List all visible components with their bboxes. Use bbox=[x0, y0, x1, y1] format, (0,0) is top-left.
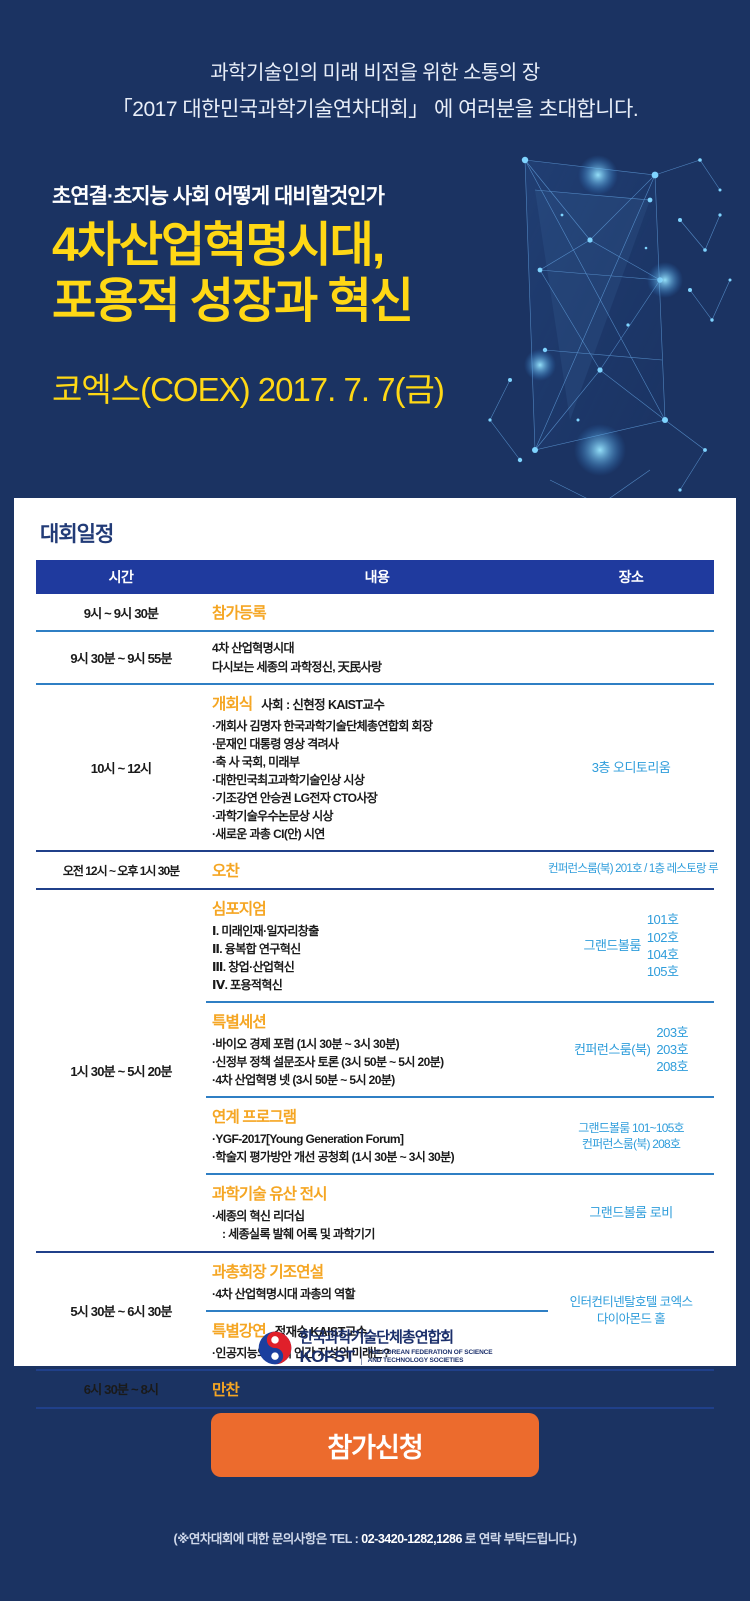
section-title: 심포지엄 bbox=[212, 897, 266, 919]
section-item-list: 4차 산업혁명시대 과총의 역할 bbox=[212, 1285, 548, 1303]
row-place bbox=[548, 1370, 714, 1408]
section-extra-line: : 세종실록 발췌 어록 및 과학기기 bbox=[212, 1225, 548, 1244]
row-place: 컨퍼런스룸(북) 201호 / 1층 레스토랑 루 bbox=[548, 851, 714, 889]
column-header-time: 시간 bbox=[36, 560, 206, 594]
row-line: 다시보는 세종의 과학정신, 天民사랑 bbox=[212, 658, 548, 677]
room: 101호 bbox=[647, 911, 679, 928]
headline-block: 초연결·초지능 사회 어떻게 대비할것인가 4차산업혁명시대, 포용적 성장과 … bbox=[52, 180, 532, 411]
section-heading-line: 개회식 사회 : 신현정 KAIST교수 bbox=[212, 692, 548, 714]
table-row[interactable]: 6시 30분 ~ 8시 만찬 bbox=[36, 1370, 714, 1408]
section-item-list: Ⅰ. 미래인재·일자리창출 Ⅱ. 융복합 연구혁신 Ⅲ. 창업·산업혁신 Ⅳ. … bbox=[212, 922, 548, 994]
place-split: 그랜드볼룸 101호 102호 104호 105호 bbox=[548, 911, 714, 980]
row-place bbox=[548, 594, 714, 631]
list-item: 문재인 대통령 영상 격려사 bbox=[212, 735, 548, 753]
intro-line-2: 「2017 대한민국과학기술연차대회」 에 여러분을 초대합니다. bbox=[0, 94, 750, 127]
headline-venue-date: 코엑스(COEX) 2017. 7. 7(금) bbox=[52, 363, 532, 411]
list-item: 과학기술우수논문상 시상 bbox=[212, 807, 548, 825]
apply-button[interactable]: 참가신청 bbox=[211, 1413, 539, 1477]
kofst-abbr-row: KOFST THE KOREAN FEDERATION OF SCIENCE A… bbox=[300, 1348, 493, 1365]
section-title: 과학기술 유산 전시 bbox=[212, 1182, 327, 1204]
headline-kicker: 초연결·초지능 사회 어떻게 대비할것인가 bbox=[52, 180, 532, 210]
row-time: 6시 30분 ~ 8시 bbox=[36, 1370, 206, 1408]
table-header-row: 시간 내용 장소 bbox=[36, 560, 714, 594]
row-content: 연계 프로그램 YGF-2017[Young Generation Forum]… bbox=[206, 1097, 548, 1174]
place-rooms: 203호 203호 208호 bbox=[656, 1024, 688, 1075]
list-item: YGF-2017[Young Generation Forum] bbox=[212, 1130, 548, 1148]
schedule-table-body: 9시 ~ 9시 30분 참가등록 9시 30분 ~ 9시 55분 4차 산업혁명… bbox=[36, 594, 714, 1408]
table-row[interactable]: 5시 30분 ~ 6시 30분 과총회장 기조연설 4차 산업혁명시대 과총의 … bbox=[36, 1252, 714, 1311]
column-header-place: 장소 bbox=[548, 560, 714, 594]
row-place: 3층 오디토리움 bbox=[548, 684, 714, 851]
row-place bbox=[548, 631, 714, 684]
row-time: 10시 ~ 12시 bbox=[36, 684, 206, 851]
contact-footnote: (※연차대회에 대한 문의사항은 TEL : 02-3420-1282,1286… bbox=[0, 1528, 750, 1547]
list-item: 바이오 경제 포럼 (1시 30분 ~ 3시 30분) bbox=[212, 1035, 548, 1053]
place-label: 그랜드볼룸 bbox=[584, 937, 641, 955]
kofst-korean-name: 한국과학기술단체총연합회 bbox=[300, 1330, 493, 1345]
row-content: 심포지엄 Ⅰ. 미래인재·일자리창출 Ⅱ. 융복합 연구혁신 Ⅲ. 창업·산업혁… bbox=[206, 889, 548, 1002]
list-item: 개회사 김명자 한국과학기술단체총연합회 회장 bbox=[212, 717, 548, 735]
row-content: 참가등록 bbox=[206, 594, 548, 631]
place-label: 컨퍼런스룸(북) bbox=[574, 1041, 650, 1059]
row-content: 만찬 bbox=[206, 1370, 548, 1408]
row-content: 4차 산업혁명시대 다시보는 세종의 과학정신, 天民사랑 bbox=[206, 631, 548, 684]
headline-title-line-2: 포용적 성장과 혁신 bbox=[52, 274, 532, 330]
section-title: 참가등록 bbox=[212, 601, 266, 623]
row-time: 9시 30분 ~ 9시 55분 bbox=[36, 631, 206, 684]
section-item-list: 개회사 김명자 한국과학기술단체총연합회 회장 문재인 대통령 영상 격려사 축… bbox=[212, 717, 548, 843]
list-item: 대한민국최고과학기술인상 시상 bbox=[212, 771, 548, 789]
schedule-card: 대회일정 시간 내용 장소 9시 ~ 9시 30분 참가등록 bbox=[14, 498, 736, 1366]
list-item: Ⅲ. 창업·산업혁신 bbox=[212, 958, 548, 976]
list-item: 학술지 평가방안 개선 공청회 (1시 30분 ~ 3시 30분) bbox=[212, 1148, 548, 1166]
kofst-logo-text: 한국과학기술단체총연합회 KOFST THE KOREAN FEDERATION… bbox=[300, 1330, 493, 1365]
place-line: 인터컨티넨탈호텔 코엑스 bbox=[548, 1294, 714, 1311]
row-place: 그랜드볼룸 로비 bbox=[548, 1174, 714, 1252]
list-item: Ⅳ. 포용적혁신 bbox=[212, 976, 548, 994]
list-item: 축 사 국회, 미래부 bbox=[212, 753, 548, 771]
place-line: 그랜드볼룸 101~105호 bbox=[548, 1120, 714, 1136]
kofst-swirl-icon bbox=[258, 1331, 292, 1365]
list-item: Ⅱ. 융복합 연구혁신 bbox=[212, 940, 548, 958]
poster-root: 과학기술인의 미래 비전을 위한 소통의 장 「2017 대한민국과학기술연차대… bbox=[0, 0, 750, 1601]
table-row[interactable]: 9시 30분 ~ 9시 55분 4차 산업혁명시대 다시보는 세종의 과학정신,… bbox=[36, 631, 714, 684]
footnote-prefix: (※연차대회에 대한 문의사항은 TEL : bbox=[174, 1532, 362, 1546]
section-title: 만찬 bbox=[212, 1378, 239, 1400]
row-content: 과총회장 기조연설 4차 산업혁명시대 과총의 역할 bbox=[206, 1252, 548, 1311]
kofst-english-name: THE KOREAN FEDERATION OF SCIENCE AND TEC… bbox=[368, 1349, 493, 1365]
kofst-logo: 한국과학기술단체총연합회 KOFST THE KOREAN FEDERATION… bbox=[0, 1330, 750, 1365]
table-row[interactable]: 오전 12시 ~ 오후 1시 30분 오찬 컨퍼런스룸(북) 201호 / 1층… bbox=[36, 851, 714, 889]
row-content: 특별세션 바이오 경제 포럼 (1시 30분 ~ 3시 30분) 신정부 정책 … bbox=[206, 1002, 548, 1097]
room: 105호 bbox=[647, 963, 679, 980]
row-line: 4차 산업혁명시대 bbox=[212, 639, 548, 658]
schedule-table-header: 시간 내용 장소 bbox=[36, 560, 714, 594]
row-time: 오전 12시 ~ 오후 1시 30분 bbox=[36, 851, 206, 889]
list-item: Ⅰ. 미래인재·일자리창출 bbox=[212, 922, 548, 940]
room: 203호 bbox=[656, 1041, 688, 1058]
section-title: 오찬 bbox=[212, 859, 239, 881]
footnote-suffix: 로 연락 부탁드립니다.) bbox=[462, 1532, 577, 1546]
row-time: 9시 ~ 9시 30분 bbox=[36, 594, 206, 631]
table-row[interactable]: 1시 30분 ~ 5시 20분 심포지엄 Ⅰ. 미래인재·일자리창출 Ⅱ. 융복… bbox=[36, 889, 714, 1002]
list-item: 기조강연 안승권 LG전자 CTO사장 bbox=[212, 789, 548, 807]
place-rooms: 101호 102호 104호 105호 bbox=[647, 911, 679, 980]
room: 104호 bbox=[647, 946, 679, 963]
section-title: 과총회장 기조연설 bbox=[212, 1260, 323, 1282]
intro-text: 과학기술인의 미래 비전을 위한 소통의 장 「2017 대한민국과학기술연차대… bbox=[0, 58, 750, 127]
kofst-english-line-2: AND TECHNOLOGY SOCIETIES bbox=[368, 1357, 464, 1364]
place-line: 컨퍼런스룸(북) 208호 bbox=[548, 1136, 714, 1152]
intro-line-1: 과학기술인의 미래 비전을 위한 소통의 장 bbox=[0, 58, 750, 89]
kofst-abbreviation: KOFST bbox=[300, 1348, 355, 1365]
place-split: 컨퍼런스룸(북) 203호 203호 208호 bbox=[548, 1024, 714, 1075]
logo-divider bbox=[361, 1349, 362, 1365]
list-item: 4차 산업혁명 넷 (3시 50분 ~ 5시 20분) bbox=[212, 1071, 548, 1089]
section-item-list: 바이오 경제 포럼 (1시 30분 ~ 3시 30분) 신정부 정책 설문조사 … bbox=[212, 1035, 548, 1089]
list-item: 새로운 과총 CI(안) 시연 bbox=[212, 825, 548, 843]
section-subtitle: 사회 : 신현정 KAIST교수 bbox=[261, 698, 384, 712]
place-line: 다이아몬드 홀 bbox=[548, 1311, 714, 1328]
row-content: 오찬 bbox=[206, 851, 548, 889]
row-content: 과학기술 유산 전시 세종의 혁신 리더십 : 세종실록 발췌 어록 및 과학기… bbox=[206, 1174, 548, 1252]
column-header-content: 내용 bbox=[206, 560, 548, 594]
list-item: 4차 산업혁명시대 과총의 역할 bbox=[212, 1285, 548, 1303]
row-content: 개회식 사회 : 신현정 KAIST교수 개회사 김명자 한국과학기술단체총연합… bbox=[206, 684, 548, 851]
section-title: 특별세션 bbox=[212, 1010, 266, 1032]
table-row[interactable]: 10시 ~ 12시 개회식 사회 : 신현정 KAIST교수 개회사 김명자 한… bbox=[36, 684, 714, 851]
list-item: 세종의 혁신 리더십 bbox=[212, 1207, 548, 1225]
section-title: 개회식 bbox=[212, 692, 252, 714]
headline-title-line-1: 4차산업혁명시대, bbox=[52, 218, 532, 274]
row-place: 그랜드볼룸 101~105호 컨퍼런스룸(북) 208호 bbox=[548, 1097, 714, 1174]
row-place: 그랜드볼룸 101호 102호 104호 105호 bbox=[548, 889, 714, 1002]
section-title: 연계 프로그램 bbox=[212, 1105, 296, 1127]
room: 208호 bbox=[656, 1058, 688, 1075]
kofst-english-line-1: THE KOREAN FEDERATION OF SCIENCE bbox=[368, 1349, 493, 1356]
section-item-list: YGF-2017[Young Generation Forum] 학술지 평가방… bbox=[212, 1130, 548, 1166]
row-place: 컨퍼런스룸(북) 203호 203호 208호 bbox=[548, 1002, 714, 1097]
room: 102호 bbox=[647, 929, 679, 946]
contact-phone-number: 02-3420-1282,1286 bbox=[361, 1532, 462, 1546]
list-item: 신정부 정책 설문조사 토론 (3시 50분 ~ 5시 20분) bbox=[212, 1053, 548, 1071]
schedule-card-title: 대회일정 bbox=[40, 518, 714, 548]
row-time: 1시 30분 ~ 5시 20분 bbox=[36, 889, 206, 1252]
room: 203호 bbox=[656, 1024, 688, 1041]
section-item-list: 세종의 혁신 리더십 bbox=[212, 1207, 548, 1225]
table-row[interactable]: 9시 ~ 9시 30분 참가등록 bbox=[36, 594, 714, 631]
schedule-table: 시간 내용 장소 9시 ~ 9시 30분 참가등록 9시 30분 ~ 9시 55… bbox=[36, 560, 714, 1409]
